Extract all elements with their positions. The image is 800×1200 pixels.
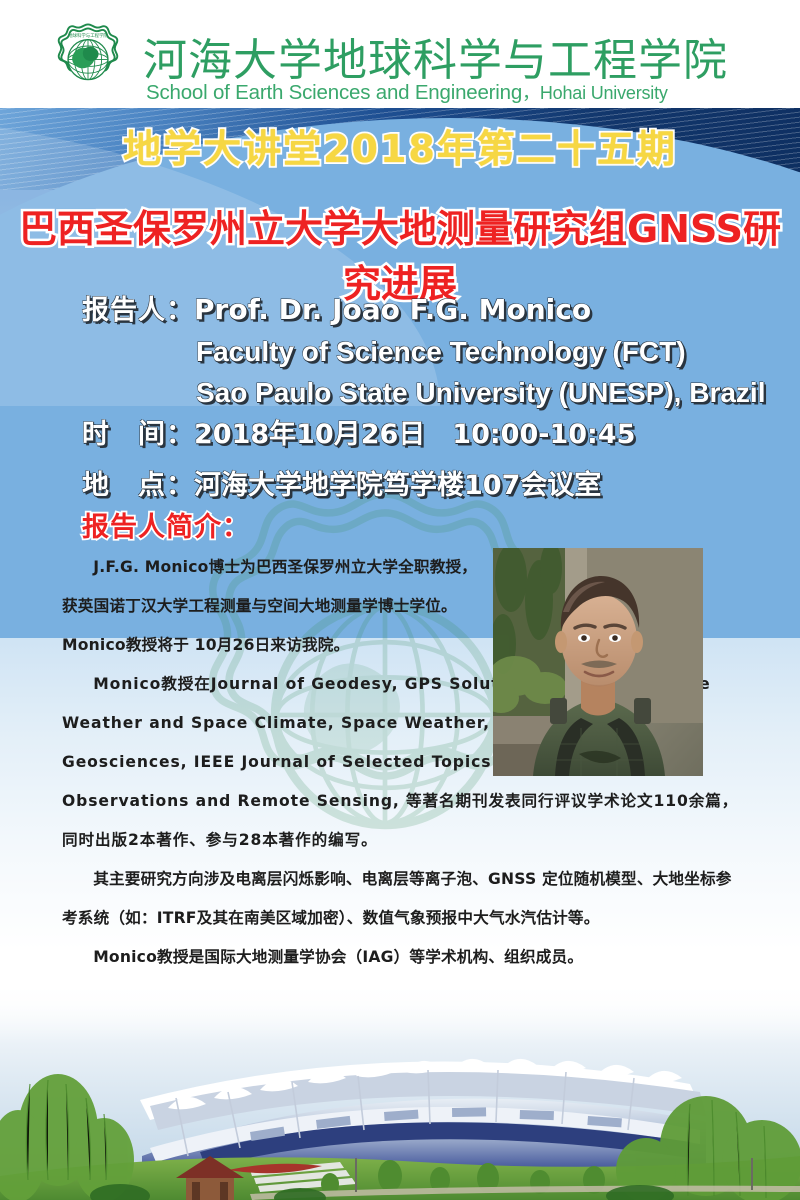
speaker-affiliation-2: Sao Paulo State University (UNESP), Braz… (82, 377, 766, 409)
bio-paragraph: J.F.G. Monico博士为巴西圣保罗州立大学全职教授，获英国诺丁汉大学工程… (62, 548, 486, 665)
bio-paragraph: Monico教授是国际大地测量学协会（IAG）等学术机构、组织成员。 (62, 938, 742, 977)
school-logo-icon: 地球科学与工程学院 (48, 22, 128, 102)
speaker-name: Prof. Dr. Joao F.G. Monico (194, 293, 591, 326)
campus-photo-fade (0, 980, 800, 1044)
bio-heading: 报告人简介： (82, 505, 250, 544)
bio-paragraph: 其主要研究方向涉及电离层闪烁影响、电离层等离子泡、GNSS 定位随机模型、大地坐… (62, 860, 742, 938)
speaker-block: 报告人：Prof. Dr. Joao F.G. Monico Faculty o… (82, 288, 766, 409)
speaker-affiliation-1: Faculty of Science Technology (FCT) (82, 336, 766, 368)
session-label: 地学大讲堂2018年第二十五期 (0, 118, 800, 173)
place-value: 河海大学地学院笃学楼107会议室 (194, 470, 601, 501)
header-band: 地球科学与工程学院 河海大学地球科学与工程学院 School of Earth … (0, 0, 800, 108)
meta-block: 时 间：2018年10月26日 10:00-10:45 地 点：河海大学地学院笃… (82, 412, 635, 514)
campus-stadium-photo (0, 980, 800, 1200)
school-name-en-main: School of Earth Sciences and Engineering (146, 81, 522, 104)
speaker-label: 报告人： (82, 295, 194, 326)
place-row: 地 点：河海大学地学院笃学楼107会议室 (82, 463, 635, 502)
school-name-en-tail: ，Hohai University (522, 83, 668, 103)
svg-text:地球科学与工程学院: 地球科学与工程学院 (68, 32, 108, 39)
poster-root: 地球科学与工程学院 河海大学地球科学与工程学院 School of Earth … (0, 0, 800, 1200)
place-label: 地 点： (82, 470, 194, 501)
speaker-portrait-photo (493, 548, 703, 776)
speaker-name-row: 报告人：Prof. Dr. Joao F.G. Monico (82, 288, 766, 327)
time-row: 时 间：2018年10月26日 10:00-10:45 (82, 412, 635, 451)
school-name-en: School of Earth Sciences and Engineering… (146, 79, 668, 105)
time-label: 时 间： (82, 419, 194, 450)
time-value: 2018年10月26日 10:00-10:45 (194, 419, 635, 450)
